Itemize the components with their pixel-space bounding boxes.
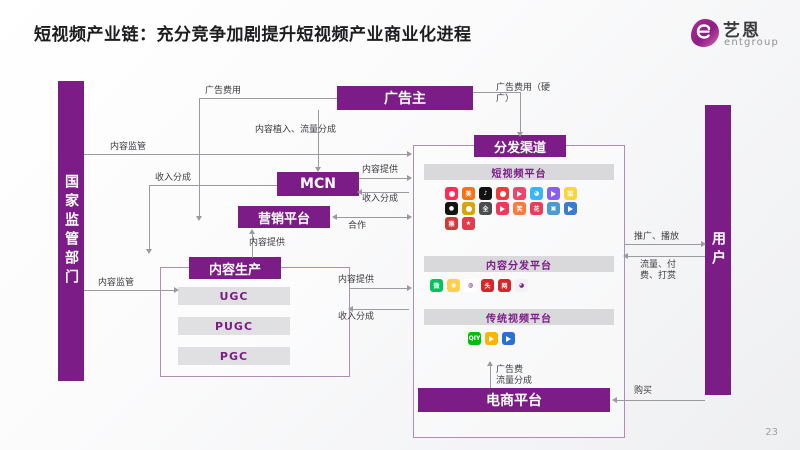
slide-header: 短视频产业链：充分竞争加剧提升短视频产业商业化进程 艺恩 entgroup <box>0 0 800 66</box>
app-huoshan-icon <box>496 187 509 200</box>
arrow-adfee-down <box>196 216 202 221</box>
icon-shape <box>500 191 506 197</box>
app-qq-icon: ◍ <box>464 279 477 292</box>
arrow-supervision-1 <box>407 151 412 157</box>
app-grid-short-video: 美♪◕梨●全笑花▣猴★ <box>443 186 595 231</box>
section-head-content-dist-label: 内容分发平台 <box>486 257 552 272</box>
app-grid-traditional-video: QIY <box>466 331 576 346</box>
entgroup-logo-mark <box>690 18 720 48</box>
arrow-prod-dist-supply <box>407 285 412 291</box>
label-ad-fee-traffic-share: 广告费 流量分成 <box>496 365 532 387</box>
arrow-cooperation-left <box>332 214 337 220</box>
app-meipai-icon: 美 <box>462 187 475 200</box>
node-regulator[interactable]: 国家监管部门 <box>58 81 84 381</box>
app-toutiao-icon: 头 <box>481 279 494 292</box>
app-quanmin-icon: 全 <box>479 202 492 215</box>
app-youku-icon <box>502 332 515 345</box>
content-item-pugc[interactable]: PUGC <box>178 317 290 335</box>
icon-shape <box>449 191 455 197</box>
node-content-production-label: 内容生产 <box>209 259 261 278</box>
app-kuaikan-icon: 猴 <box>445 217 458 230</box>
section-head-content-dist: 内容分发平台 <box>424 256 614 272</box>
app-uc-icon: ◕ <box>515 279 528 292</box>
label-content-supply-mcn: 内容提供 <box>362 165 398 176</box>
page-title: 短视频产业链：充分竞争加剧提升短视频产业商业化进程 <box>34 20 472 45</box>
content-item-pugc-label: PUGC <box>215 320 253 333</box>
icon-shape <box>517 191 522 197</box>
app-grid-content-dist: 微◉◍头网◕ <box>428 278 614 293</box>
app-tencent-video-icon <box>485 332 498 345</box>
app-wechat-icon: 微 <box>430 279 443 292</box>
line-dist-prod-revshare <box>350 309 409 310</box>
node-marketing-platform-label: 营销平台 <box>258 208 310 227</box>
arrow-advertiser-mcn <box>315 167 321 172</box>
line-prod-dist-supply <box>350 288 409 289</box>
line-cooperation <box>334 217 409 218</box>
label-cooperation: 合作 <box>348 221 366 232</box>
node-marketing-platform[interactable]: 营销平台 <box>238 206 330 228</box>
label-content-supervision-2: 内容监管 <box>98 278 134 289</box>
content-item-pgc-label: PGC <box>220 350 248 363</box>
entgroup-logo: 艺恩 entgroup <box>690 16 786 58</box>
line-ecom-dist <box>490 366 491 388</box>
label-revenue-share-dist: 收入分成 <box>338 312 374 323</box>
arrow-dist-user-promote <box>701 241 706 247</box>
line-dist-mcn-revshare <box>359 192 409 193</box>
node-content-production[interactable]: 内容生产 <box>189 257 281 279</box>
label-traffic-pay-reward: 流量、付 费、打赏 <box>640 260 676 282</box>
line-advertiser-mcn <box>318 110 319 170</box>
section-head-short-video-label: 短视频平台 <box>492 165 547 180</box>
arrow-mcn-dist-supply <box>407 175 412 181</box>
page-number: 23 <box>765 427 778 438</box>
icon-shape <box>506 336 511 342</box>
arrow-purchase <box>612 397 617 403</box>
node-mcn-label: MCN <box>300 176 336 192</box>
section-head-short-video: 短视频平台 <box>424 164 614 180</box>
icon-shape <box>568 206 573 212</box>
label-content-supervision-1: 内容监管 <box>110 142 146 153</box>
icon-shape <box>466 206 472 212</box>
label-purchase: 购买 <box>634 386 652 397</box>
line-purchase <box>615 400 705 401</box>
icon-shape <box>489 336 494 342</box>
line-mcn-dist-supply <box>359 178 409 179</box>
node-user[interactable]: 用户 <box>705 105 731 395</box>
arrow-user-dist-traffic <box>623 253 628 259</box>
app-miaopai-icon <box>462 202 475 215</box>
label-ad-fee-hard: 广告费用（硬 广） <box>496 83 550 105</box>
label-content-embed-traffic: 内容植入、流量分成 <box>255 125 336 136</box>
app-baidu-video-icon <box>564 202 577 215</box>
app-momo-icon: ● <box>445 202 458 215</box>
label-revenue-share-mcn: 收入分成 <box>362 194 398 205</box>
arrow-supervision-2 <box>174 287 179 293</box>
arrow-revshare-left-down <box>146 249 152 254</box>
app-xiaoshipin-icon: ▣ <box>547 202 560 215</box>
app-weishi-icon <box>547 187 560 200</box>
node-distribution-channel-label: 分发渠道 <box>494 137 546 156</box>
app-kuaishou-icon <box>445 187 458 200</box>
node-advertiser-label: 广告主 <box>384 88 426 108</box>
app-netease-icon: 网 <box>498 279 511 292</box>
app-vue-icon: ★ <box>462 217 475 230</box>
app-papi-icon: 笑 <box>513 202 526 215</box>
node-regulator-label: 国家监管部门 <box>61 174 81 288</box>
line-adfee-v <box>199 98 200 218</box>
app-xigua-icon <box>513 187 526 200</box>
app-douyin-icon: ♪ <box>479 187 492 200</box>
app-huajiao-icon: 花 <box>530 202 543 215</box>
line-revshare-left-v <box>149 185 150 251</box>
node-advertiser[interactable]: 广告主 <box>337 86 473 110</box>
arrow-adhard-down <box>517 132 523 137</box>
app-iqiyi-icon: QIY <box>468 332 481 345</box>
content-item-ugc[interactable]: UGC <box>178 287 290 305</box>
content-item-pgc[interactable]: PGC <box>178 347 290 365</box>
label-revenue-share-left: 收入分成 <box>155 173 191 184</box>
node-ecommerce[interactable]: 电商平台 <box>418 388 610 412</box>
app-yingke-icon <box>496 202 509 215</box>
line-user-dist-traffic <box>625 256 705 257</box>
node-ecommerce-label: 电商平台 <box>486 390 542 410</box>
app-bilibili-icon: ◕ <box>530 187 543 200</box>
content-item-ugc-label: UGC <box>219 290 248 303</box>
node-user-label: 用户 <box>708 231 728 269</box>
node-mcn[interactable]: MCN <box>277 172 359 196</box>
section-head-traditional-video: 传统视频平台 <box>424 309 614 325</box>
label-promote-play: 推广、播放 <box>634 232 679 243</box>
line-adfee-h <box>199 98 337 99</box>
arrow-cooperation-right <box>407 214 412 220</box>
arrow-prod-marketing <box>249 229 255 234</box>
app-pear-icon: 梨 <box>564 187 577 200</box>
line-revshare-left-h <box>149 185 277 186</box>
industry-chain-diagram: 国家监管部门 用户 广告主 MCN 营销平台 内容生产 UGC PUGC PGC… <box>0 66 800 450</box>
arrow-ecom-dist <box>487 361 493 366</box>
line-supervision-1 <box>84 154 409 155</box>
icon-shape <box>500 206 505 212</box>
label-ad-fee: 广告费用 <box>205 86 241 97</box>
app-weibo-icon: ◉ <box>447 279 460 292</box>
section-head-traditional-video-label: 传统视频平台 <box>486 310 552 325</box>
logo-brand-en: entgroup <box>724 37 779 48</box>
icon-shape <box>551 191 556 197</box>
node-distribution-channel[interactable]: 分发渠道 <box>474 135 566 157</box>
line-dist-user-promote <box>625 244 705 245</box>
line-supervision-2 <box>84 290 176 291</box>
label-content-supply-marketing: 内容提供 <box>249 238 285 249</box>
label-content-supply-dist: 内容提供 <box>338 275 374 286</box>
